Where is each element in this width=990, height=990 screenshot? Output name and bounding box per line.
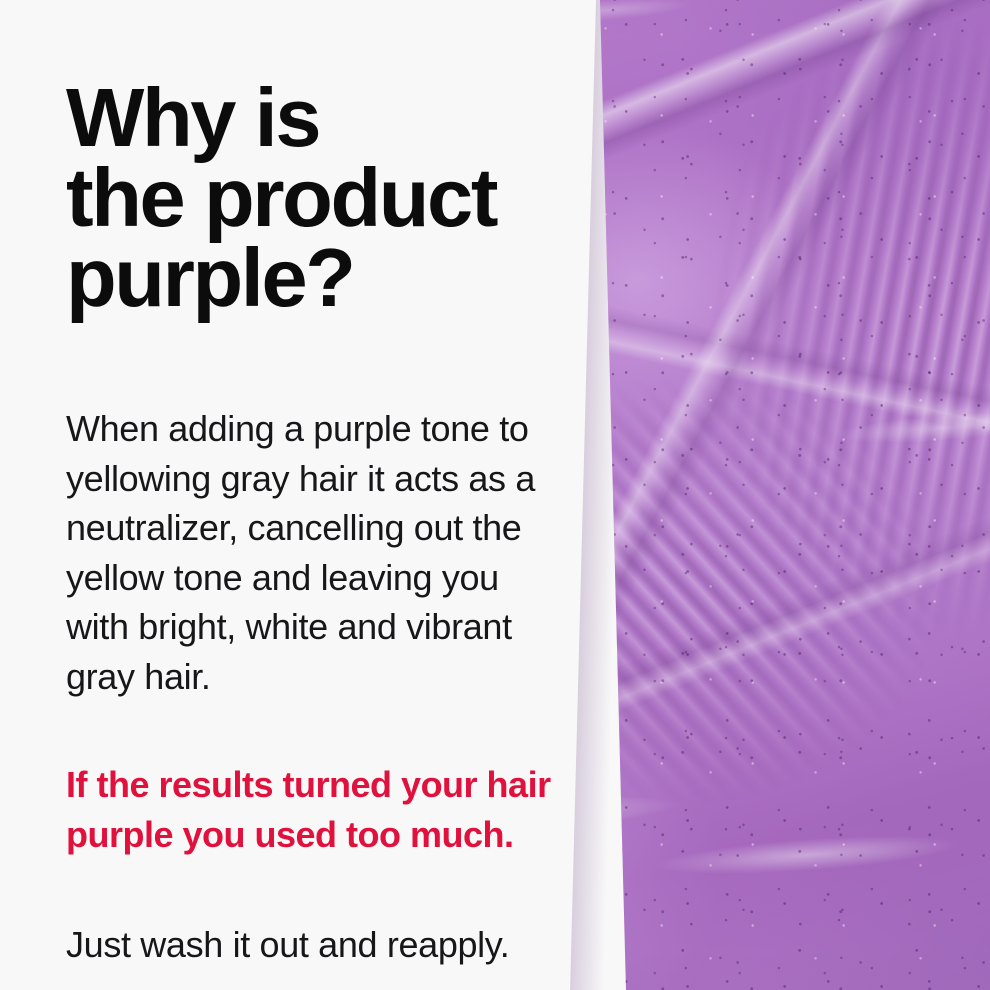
headline-line-3: purple? (66, 238, 586, 318)
intro-line-6: gray hair. (66, 652, 576, 702)
highlight-paragraph: If the results turned your hair purple y… (66, 760, 576, 859)
headline-line-2: the product (66, 158, 586, 238)
intro-paragraph: When adding a purple tone to yellowing g… (66, 404, 576, 701)
infographic-card: Why is the product purple? When adding a… (0, 0, 990, 990)
paragraph-spacer-2 (66, 859, 576, 920)
page-title: Why is the product purple? (66, 78, 586, 318)
intro-line-5: with bright, white and vibrant (66, 602, 576, 652)
intro-line-1: When adding a purple tone to (66, 404, 576, 454)
highlight-line-2: purple you used too much. (66, 810, 576, 860)
text-column: Why is the product purple? When adding a… (0, 0, 600, 990)
intro-line-4: yellow tone and leaving you (66, 553, 576, 603)
outro-paragraph: Just wash it out and reapply. (66, 920, 576, 970)
intro-line-2: yellowing gray hair it acts as a (66, 454, 576, 504)
intro-line-3: neutralizer, cancelling out the (66, 503, 576, 553)
headline-line-1: Why is (66, 78, 586, 158)
paragraph-spacer-1 (66, 701, 576, 760)
body-copy: When adding a purple tone to yellowing g… (66, 404, 576, 970)
highlight-line-1: If the results turned your hair (66, 760, 576, 810)
outro-line-1: Just wash it out and reapply. (66, 920, 576, 970)
